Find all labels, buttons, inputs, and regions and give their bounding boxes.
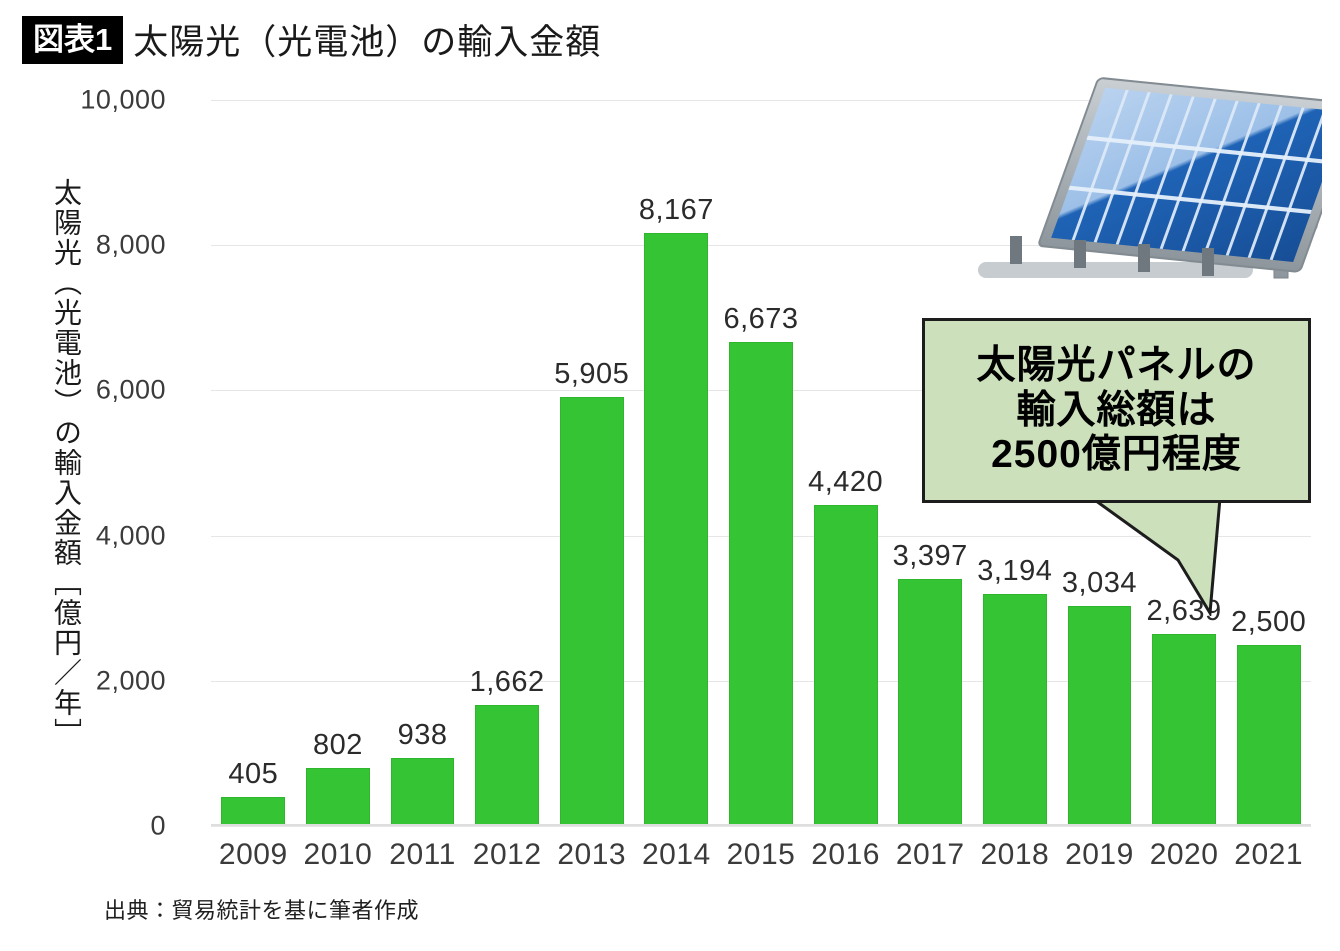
- bar[interactable]: [1068, 606, 1132, 826]
- y-axis-tick-label: 6,000: [26, 375, 166, 406]
- y-axis-tick-label: 4,000: [26, 520, 166, 551]
- bar[interactable]: [1152, 634, 1216, 826]
- x-axis-tick-label: 2011: [380, 838, 465, 872]
- callout-line-2: 輸入総額は: [1016, 389, 1216, 433]
- bar[interactable]: [560, 397, 624, 826]
- bar[interactable]: [306, 768, 370, 826]
- x-axis-tick-label: 2016: [803, 838, 888, 872]
- x-axis-tick-label: 2017: [888, 838, 973, 872]
- bar[interactable]: [221, 797, 285, 826]
- x-axis-tick-label: 2010: [296, 838, 381, 872]
- y-axis-tick-label: 8,000: [26, 230, 166, 261]
- callout-annotation: 太陽光パネルの 輸入総額は 2500億円程度: [922, 318, 1311, 503]
- bar-value-label: 938: [398, 719, 448, 752]
- bar-value-label: 802: [313, 729, 363, 762]
- bar-value-label: 1,662: [470, 666, 545, 699]
- bar-column[interactable]: 8,167: [644, 100, 708, 826]
- bar-value-label: 3,397: [893, 540, 968, 573]
- y-axis-tick-label: 10,000: [26, 85, 166, 116]
- bar[interactable]: [644, 233, 708, 826]
- callout-text: 太陽光パネルの 輸入総額は 2500億円程度: [922, 318, 1311, 503]
- page-title-text: 太陽光（光電池）の輸入金額: [133, 14, 601, 65]
- bar-column[interactable]: 405: [221, 100, 285, 826]
- bar-column[interactable]: 6,673: [729, 100, 793, 826]
- bar-column[interactable]: 802: [306, 100, 370, 826]
- source-note: 出典：貿易統計を基に筆者作成: [104, 893, 419, 925]
- callout-line-1: 太陽光パネルの: [976, 344, 1256, 388]
- bar-value-label: 8,167: [639, 194, 714, 227]
- bar-value-label: 5,905: [554, 358, 629, 391]
- x-axis-tick-label: 2019: [1057, 838, 1142, 872]
- x-axis-tick-label: 2012: [465, 838, 550, 872]
- callout-line-3: 2500億円程度: [991, 433, 1242, 477]
- bar-value-label: 405: [228, 758, 278, 791]
- bar-value-label: 3,194: [977, 555, 1052, 588]
- gridline: [211, 826, 1311, 827]
- x-axis-tick-label: 2018: [973, 838, 1058, 872]
- figure-number-badge: 図表1: [22, 16, 123, 64]
- y-axis-tick-label: 0: [26, 811, 166, 842]
- bar[interactable]: [391, 758, 455, 826]
- x-axis-tick-label: 2015: [719, 838, 804, 872]
- bar-column[interactable]: 4,420: [814, 100, 878, 826]
- bar[interactable]: [898, 579, 962, 826]
- page-title: 図表1 太陽光（光電池）の輸入金額: [22, 14, 601, 65]
- y-axis-tick-label: 2,000: [26, 665, 166, 696]
- bar-column[interactable]: 938: [391, 100, 455, 826]
- x-axis-tick-label: 2020: [1142, 838, 1227, 872]
- x-axis-tick-label: 2021: [1226, 838, 1311, 872]
- bar-value-label: 6,673: [723, 303, 798, 336]
- bar[interactable]: [1237, 645, 1301, 827]
- x-axis-tick-label: 2009: [211, 838, 296, 872]
- bar-column[interactable]: 5,905: [560, 100, 624, 826]
- x-axis-tick-label: 2014: [634, 838, 719, 872]
- x-axis-tick-label: 2013: [549, 838, 634, 872]
- callout-tail: [1092, 498, 1312, 616]
- chart-page: 図表1 太陽光（光電池）の輸入金額 太陽光（光電池）の輸入金額［億円／年］ 02…: [0, 0, 1340, 951]
- bar[interactable]: [983, 594, 1047, 826]
- bar[interactable]: [729, 342, 793, 826]
- bar-column[interactable]: 1,662: [475, 100, 539, 826]
- y-axis-label: 太陽光（光電池）の輸入金額［億円／年］: [28, 178, 80, 738]
- solar-panel-illustration: [962, 66, 1322, 316]
- bar-value-label: 4,420: [808, 466, 883, 499]
- bar[interactable]: [814, 505, 878, 826]
- bar[interactable]: [475, 705, 539, 826]
- x-axis-line: [211, 824, 1311, 826]
